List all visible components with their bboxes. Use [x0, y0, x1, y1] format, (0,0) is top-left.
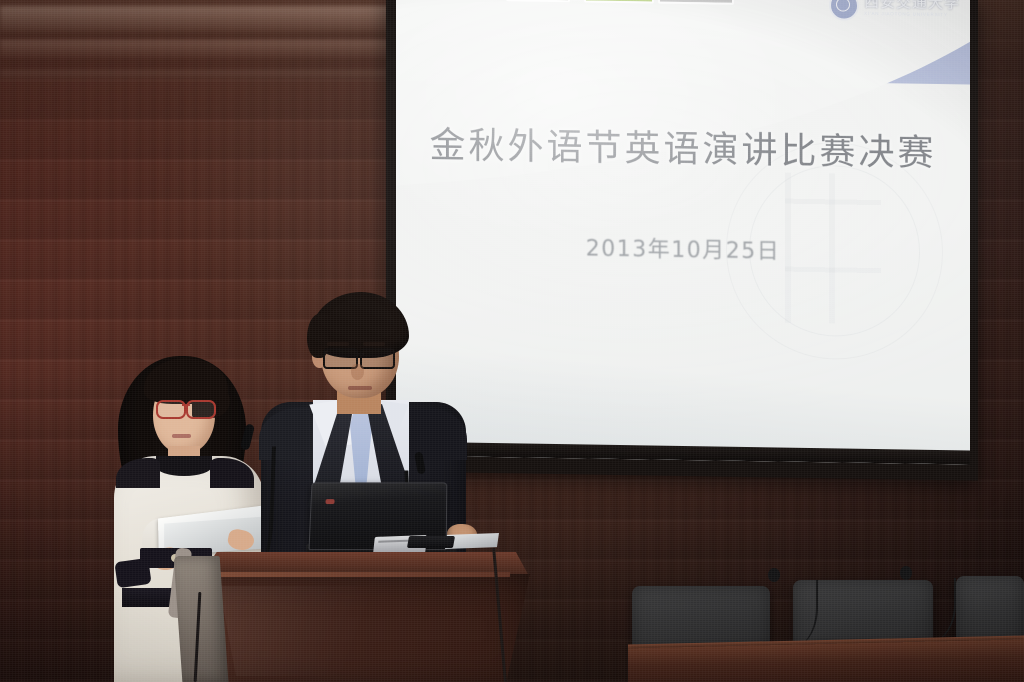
female-host-collar: [156, 456, 212, 476]
gooseneck-microphone-left: [238, 424, 278, 564]
male-host-glasses-icon: [323, 348, 395, 365]
female-host-glasses-icon: [156, 400, 216, 415]
male-host-brow-right: [363, 342, 385, 346]
male-host-nose: [351, 364, 364, 380]
male-host-brow-left: [327, 342, 349, 346]
microphone-gooseneck: [774, 580, 818, 648]
male-host-mouth: [348, 386, 372, 390]
stage-photo: 西安交通大学 XI'AN JIAOTONG UNIVERSITY 金秋外语节英语…: [0, 0, 1024, 682]
microphone-base: [407, 536, 455, 548]
university-name-cn: 西安交通大学: [864, 0, 960, 12]
microphone-capsule: [900, 566, 912, 580]
dress-cuff-left: [114, 558, 151, 588]
projection-screen: 西安交通大学 XI'AN JIAOTONG UNIVERSITY 金秋外语节英语…: [396, 0, 970, 465]
projection-screen-frame: 西安交通大学 XI'AN JIAOTONG UNIVERSITY 金秋外语节英语…: [386, 0, 978, 481]
microphone-capsule: [768, 568, 780, 582]
glasses-lens-right: [186, 400, 216, 419]
podium-sheen: [208, 586, 488, 676]
laptop-brand-logo-icon: [325, 499, 334, 504]
podium: [178, 552, 530, 682]
glasses-lens-right: [360, 348, 395, 369]
slide-title: 金秋外语节英语演讲比赛决赛: [396, 116, 970, 177]
female-host-mouth: [172, 434, 191, 438]
microphone-gooseneck: [906, 578, 956, 644]
university-name-en: XI'AN JIAOTONG UNIVERSITY: [864, 12, 960, 18]
shoulder-bag: [174, 556, 229, 682]
microphone-gooseneck: [244, 446, 276, 565]
podium-edge-highlight: [196, 572, 510, 577]
university-seal-icon: [829, 0, 859, 21]
university-logo: 西安交通大学 XI'AN JIAOTONG UNIVERSITY: [829, 0, 960, 22]
glasses-lens-left: [156, 400, 186, 419]
